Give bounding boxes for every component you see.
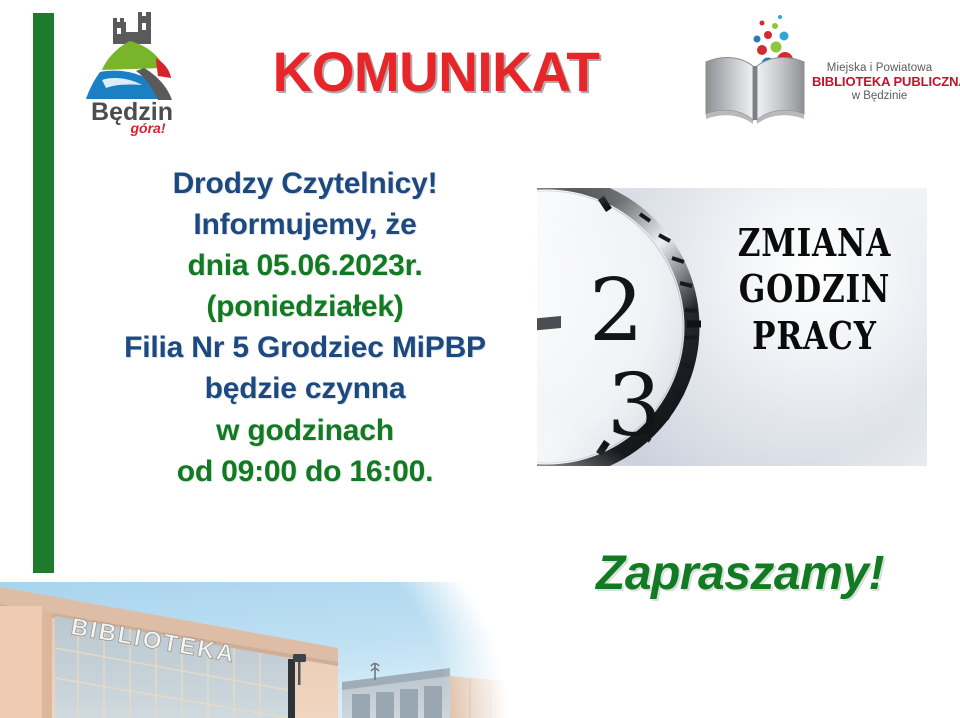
- clock-numeral-2: 2: [589, 261, 644, 361]
- bedzin-city-logo: Będzin góra!: [72, 8, 192, 136]
- message-line-8: od 09:00 do 16:00.: [70, 451, 540, 492]
- clock-change-of-hours-image: 2 3 ZMIANA GODZIN PRACY: [537, 188, 927, 466]
- announcement-poster: Będzin góra! KOMUNIKAT: [0, 0, 960, 718]
- message-line-2: Informujemy, że: [70, 204, 540, 245]
- message-line-6: będzie czynna: [70, 368, 540, 409]
- clock-word-pracy: PRACY: [730, 313, 898, 359]
- message-line-3: dnia 05.06.2023r.: [70, 245, 540, 286]
- invitation-text: Zapraszamy!: [560, 546, 920, 601]
- message-line-5: Filia Nr 5 Grodziec MiPBP: [70, 327, 540, 368]
- library-logo-text: Miejska i Powiatowa BIBLIOTEKA PUBLICZNA…: [812, 62, 947, 103]
- announcement-message: Drodzy Czytelnicy! Informujemy, że dnia …: [70, 163, 540, 492]
- green-vertical-bar: [33, 13, 54, 573]
- library-logo: Miejska i Powiatowa BIBLIOTEKA PUBLICZNA…: [700, 14, 945, 132]
- bedzin-logo-slogan: góra!: [130, 120, 166, 136]
- library-logo-line3: w Będzinie: [812, 90, 947, 103]
- library-logo-line2: BIBLIOTEKA PUBLICZNA: [812, 75, 947, 90]
- clock-overlay-text: ZMIANA GODZIN PRACY: [712, 220, 917, 359]
- message-line-4: (poniedziałek): [70, 286, 540, 327]
- open-book-icon: [700, 42, 810, 127]
- clock-word-godzin: GODZIN: [730, 266, 898, 312]
- library-building-photo: BIBLIOTEKA: [0, 582, 566, 718]
- message-line-1: Drodzy Czytelnicy!: [70, 163, 540, 204]
- message-line-7: w godzinach: [70, 410, 540, 451]
- page-title: KOMUNIKAT: [250, 44, 622, 100]
- clock-word-zmiana: ZMIANA: [730, 220, 898, 266]
- clock-numeral-3: 3: [607, 356, 662, 456]
